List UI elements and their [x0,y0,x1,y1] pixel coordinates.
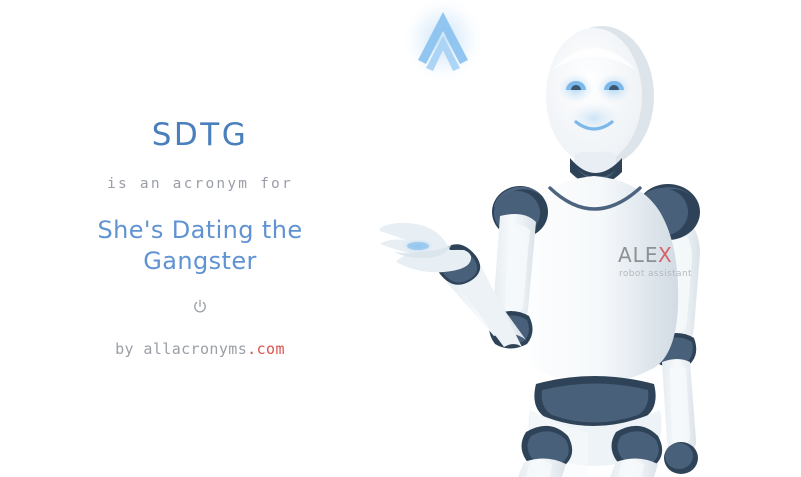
attribution-tld: .com [247,340,285,358]
attribution-prefix: by [115,340,143,358]
robot-head [546,26,654,166]
robot-smile [568,102,620,134]
attribution-brand: allacronyms [143,340,247,358]
acronym-abbreviation: SDTG [152,120,249,151]
robot-assistant-illustration: ALE X robot assistant [380,0,801,477]
acronym-connector-text: is an acronym for [107,177,293,192]
robot-raised-arm [380,186,548,349]
acronym-text-block: SDTG is an acronym for She's Dating the … [0,0,400,477]
chevron-hologram [401,0,485,85]
badge-name-primary: ALE [618,243,658,267]
site-attribution: by allacronyms.com [115,342,285,357]
power-icon [191,298,209,316]
badge-tagline: robot assistant [619,269,692,279]
badge-name-accent: X [658,243,673,267]
acronym-expansion: She's Dating the Gangster [50,215,350,276]
acronym-definition-page: SDTG is an acronym for She's Dating the … [0,0,801,477]
